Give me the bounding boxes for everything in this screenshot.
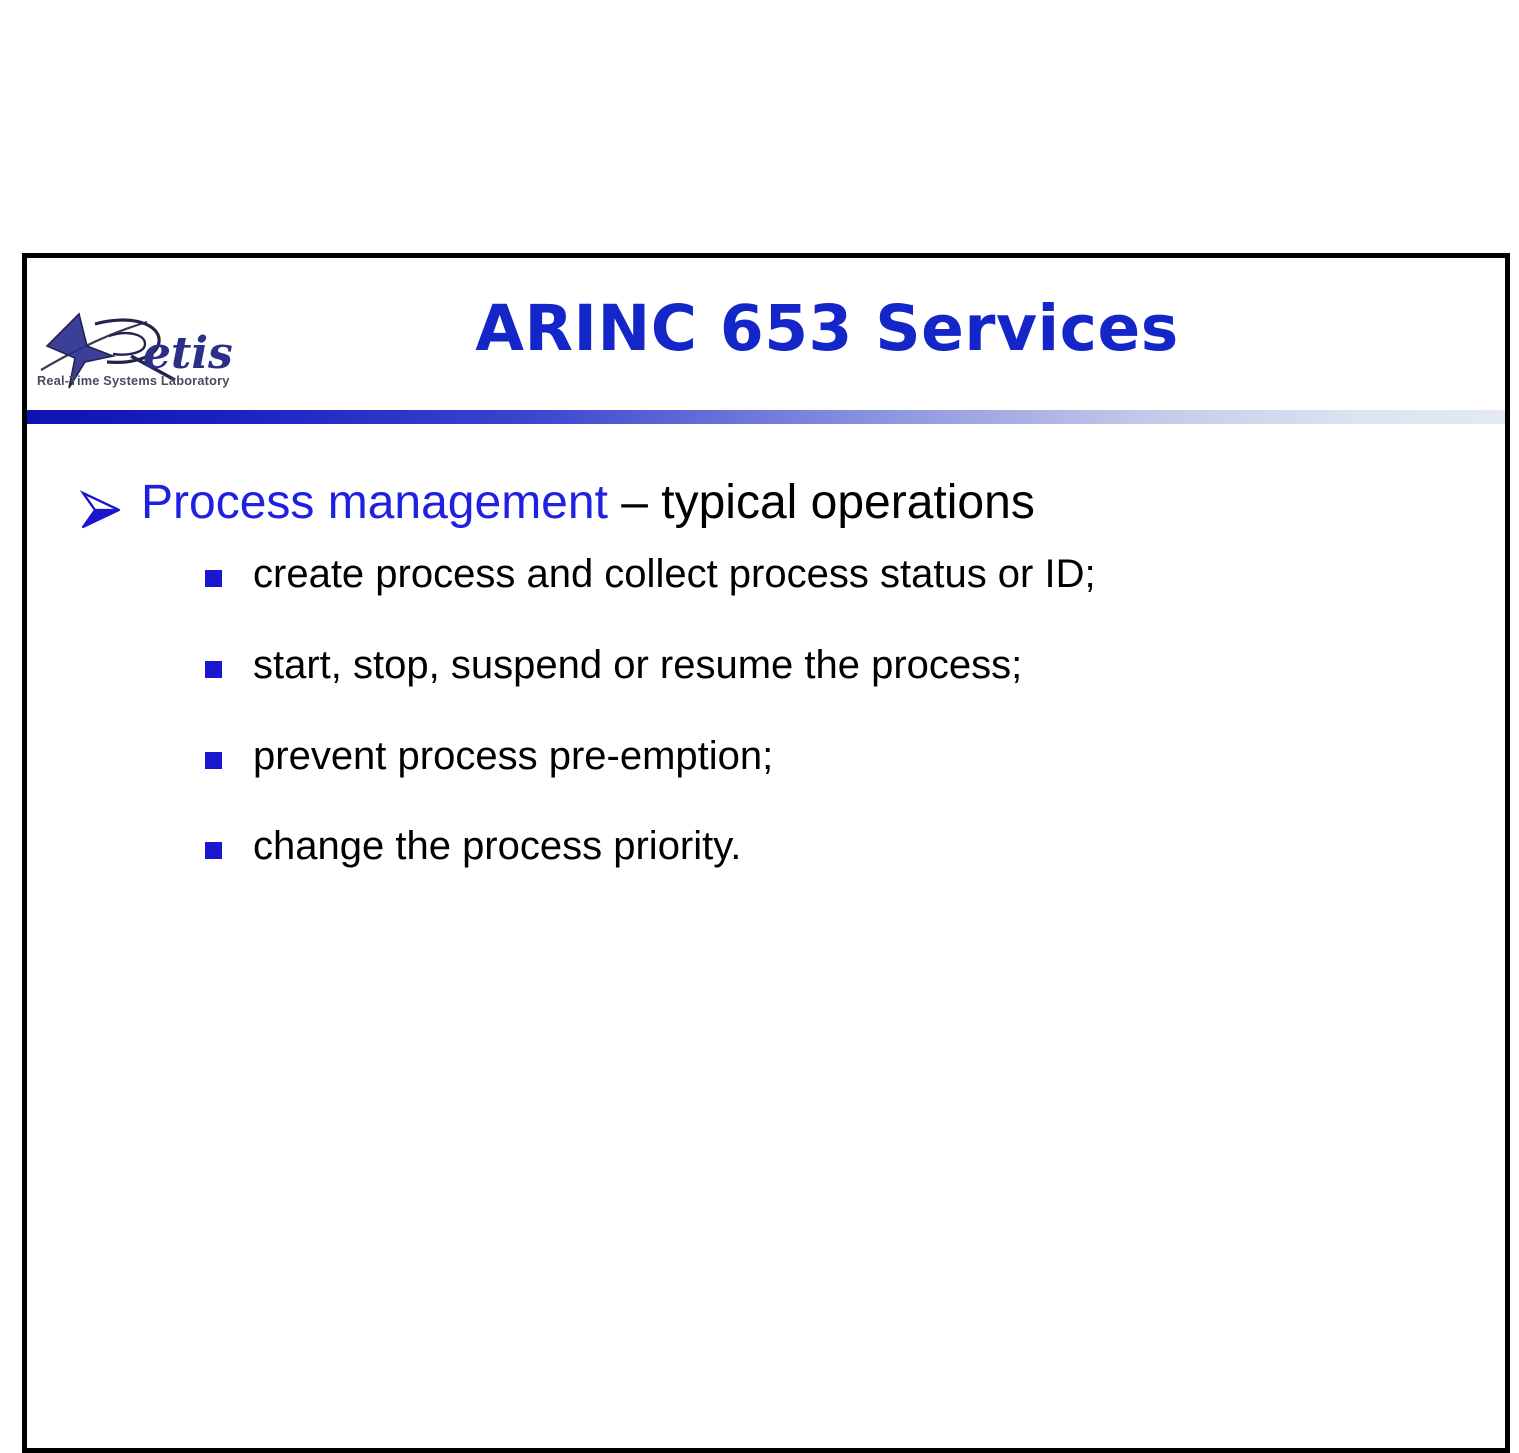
slide: etis Real-Time Systems Laboratory ARINC … — [22, 253, 1510, 1453]
square-bullet-icon — [205, 643, 253, 678]
slide-title: ARINC 653 Services — [327, 296, 1327, 362]
bullet-level2-list: create process and collect process statu… — [27, 552, 1505, 869]
bullet-level1-text: Process management – typical operations — [141, 476, 1505, 530]
bullet-level2-item: change the process priority. — [205, 824, 1505, 869]
slide-header: etis Real-Time Systems Laboratory ARINC … — [27, 258, 1505, 415]
bullet-level2-text: change the process priority. — [253, 824, 1505, 869]
bullet-level1-highlight: Process management — [141, 476, 608, 529]
bullet-level1-rest: – typical operations — [608, 476, 1035, 529]
title-divider-rule — [27, 410, 1505, 424]
bullet-level2-text: start, stop, suspend or resume the proce… — [253, 643, 1505, 688]
square-bullet-icon — [205, 552, 253, 587]
bullet-level1: Process management – typical operations — [79, 476, 1505, 530]
retis-logo-subtitle: Real-Time Systems Laboratory — [37, 374, 230, 388]
bullet-level2-text: prevent process pre-emption; — [253, 734, 1505, 779]
retis-wordmark: etis — [143, 328, 233, 379]
square-bullet-icon — [205, 824, 253, 859]
bullet-level2-text: create process and collect process statu… — [253, 552, 1505, 597]
arrowhead-bullet-icon — [79, 476, 141, 530]
bullet-level2-item: prevent process pre-emption; — [205, 734, 1505, 779]
slide-body: Process management – typical operations … — [27, 424, 1505, 915]
retis-logo: etis Real-Time Systems Laboratory — [35, 306, 247, 398]
square-bullet-icon — [205, 734, 253, 769]
bullet-level2-item: create process and collect process statu… — [205, 552, 1505, 597]
bullet-level2-item: start, stop, suspend or resume the proce… — [205, 643, 1505, 688]
